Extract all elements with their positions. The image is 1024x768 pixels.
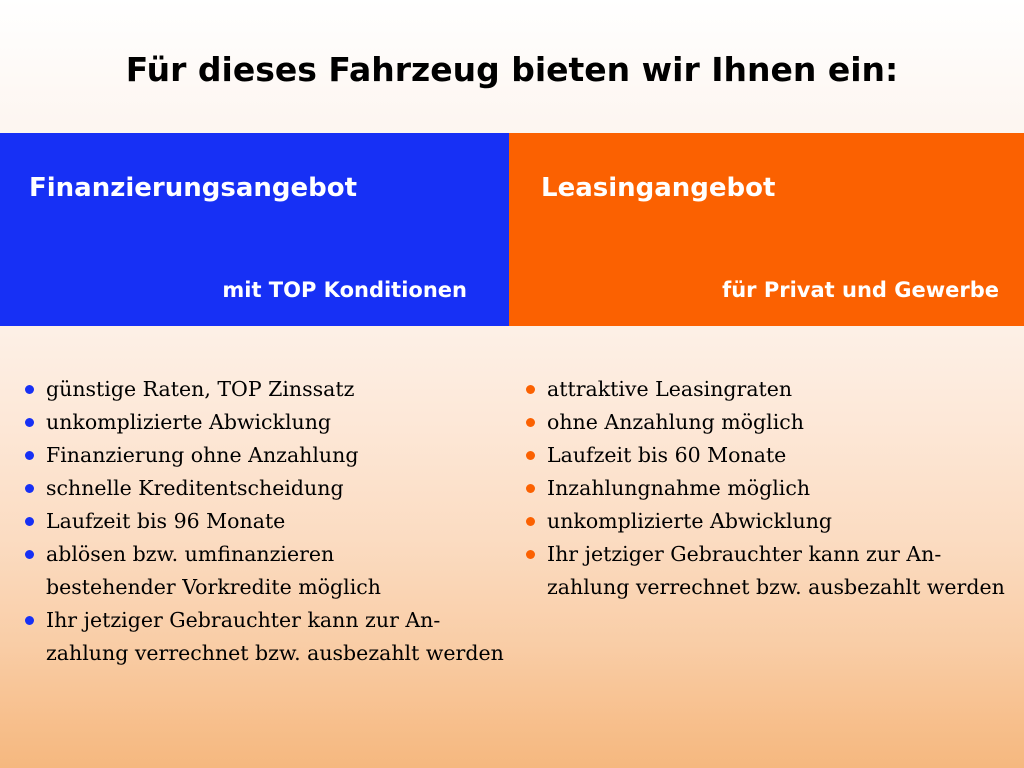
bullet-dot-icon	[25, 385, 34, 394]
list-item-line2: zahlung verrechnet bzw. ausbezahlt werde…	[547, 571, 1024, 604]
offer-banner-row: Finanzierungsangebot mit TOP Konditionen…	[0, 133, 1024, 326]
list-item: Ihr jetziger Gebrauchter kann zur An- za…	[18, 604, 509, 670]
list-item: günstige Raten, TOP Zinssatz	[18, 373, 509, 406]
bullet-columns: günstige Raten, TOP Zinssatz unkomplizie…	[0, 326, 1024, 768]
bullet-dot-icon	[526, 550, 535, 559]
list-item-line1: günstige Raten, TOP Zinssatz	[46, 377, 354, 401]
list-item-line1: ablösen bzw. umfinanzieren	[46, 542, 334, 566]
list-item-line1: schnelle Kreditentscheidung	[46, 476, 344, 500]
slide-page: Für dieses Fahrzeug bieten wir Ihnen ein…	[0, 0, 1024, 768]
list-item-line1: Laufzeit bis 60 Monate	[547, 443, 786, 467]
list-item: ablösen bzw. umfinanzieren bestehender V…	[18, 538, 509, 604]
bullet-dot-icon	[526, 517, 535, 526]
leasing-banner-subtitle: für Privat und Gewerbe	[722, 278, 999, 302]
list-item-line1: unkomplizierte Abwicklung	[547, 509, 832, 533]
list-item-line2: bestehender Vorkredite möglich	[46, 571, 509, 604]
list-item-line1: ohne Anzahlung möglich	[547, 410, 804, 434]
list-item-line1: Inzahlungnahme möglich	[547, 476, 810, 500]
bullet-dot-icon	[25, 616, 34, 625]
leasing-banner-title: Leasingangebot	[541, 173, 775, 203]
bullet-dot-icon	[526, 418, 535, 427]
financing-banner-title: Finanzierungsangebot	[29, 173, 357, 203]
bullet-dot-icon	[25, 550, 34, 559]
leasing-banner: Leasingangebot für Privat und Gewerbe	[509, 133, 1024, 326]
financing-banner-subtitle: mit TOP Konditionen	[222, 278, 467, 302]
bullet-dot-icon	[25, 484, 34, 493]
list-item-line1: Ihr jetziger Gebrauchter kann zur An-	[46, 608, 440, 632]
list-item-line1: unkomplizierte Abwicklung	[46, 410, 331, 434]
list-item-line1: Finanzierung ohne Anzahlung	[46, 443, 358, 467]
bullet-dot-icon	[25, 451, 34, 460]
financing-banner: Finanzierungsangebot mit TOP Konditionen	[0, 133, 509, 326]
list-item: Laufzeit bis 96 Monate	[18, 505, 509, 538]
list-item-line1: attraktive Leasingraten	[547, 377, 792, 401]
list-item: Ihr jetziger Gebrauchter kann zur An- za…	[519, 538, 1024, 604]
financing-column: günstige Raten, TOP Zinssatz unkomplizie…	[0, 326, 509, 670]
list-item: Finanzierung ohne Anzahlung	[18, 439, 509, 472]
list-item: schnelle Kreditentscheidung	[18, 472, 509, 505]
bullet-dot-icon	[25, 418, 34, 427]
bullet-dot-icon	[526, 484, 535, 493]
list-item: Laufzeit bis 60 Monate	[519, 439, 1024, 472]
financing-bullet-list: günstige Raten, TOP Zinssatz unkomplizie…	[18, 373, 509, 670]
bullet-dot-icon	[526, 451, 535, 460]
list-item: attraktive Leasingraten	[519, 373, 1024, 406]
list-item: unkomplizierte Abwicklung	[519, 505, 1024, 538]
list-item: ohne Anzahlung möglich	[519, 406, 1024, 439]
bullet-dot-icon	[526, 385, 535, 394]
list-item: Inzahlungnahme möglich	[519, 472, 1024, 505]
list-item-line1: Ihr jetziger Gebrauchter kann zur An-	[547, 542, 941, 566]
list-item-line2: zahlung verrechnet bzw. ausbezahlt werde…	[46, 637, 509, 670]
list-item-line1: Laufzeit bis 96 Monate	[46, 509, 285, 533]
list-item: unkomplizierte Abwicklung	[18, 406, 509, 439]
bullet-dot-icon	[25, 517, 34, 526]
page-title: Für dieses Fahrzeug bieten wir Ihnen ein…	[0, 50, 1024, 89]
leasing-column: attraktive Leasingraten ohne Anzahlung m…	[509, 326, 1024, 604]
leasing-bullet-list: attraktive Leasingraten ohne Anzahlung m…	[519, 373, 1024, 604]
